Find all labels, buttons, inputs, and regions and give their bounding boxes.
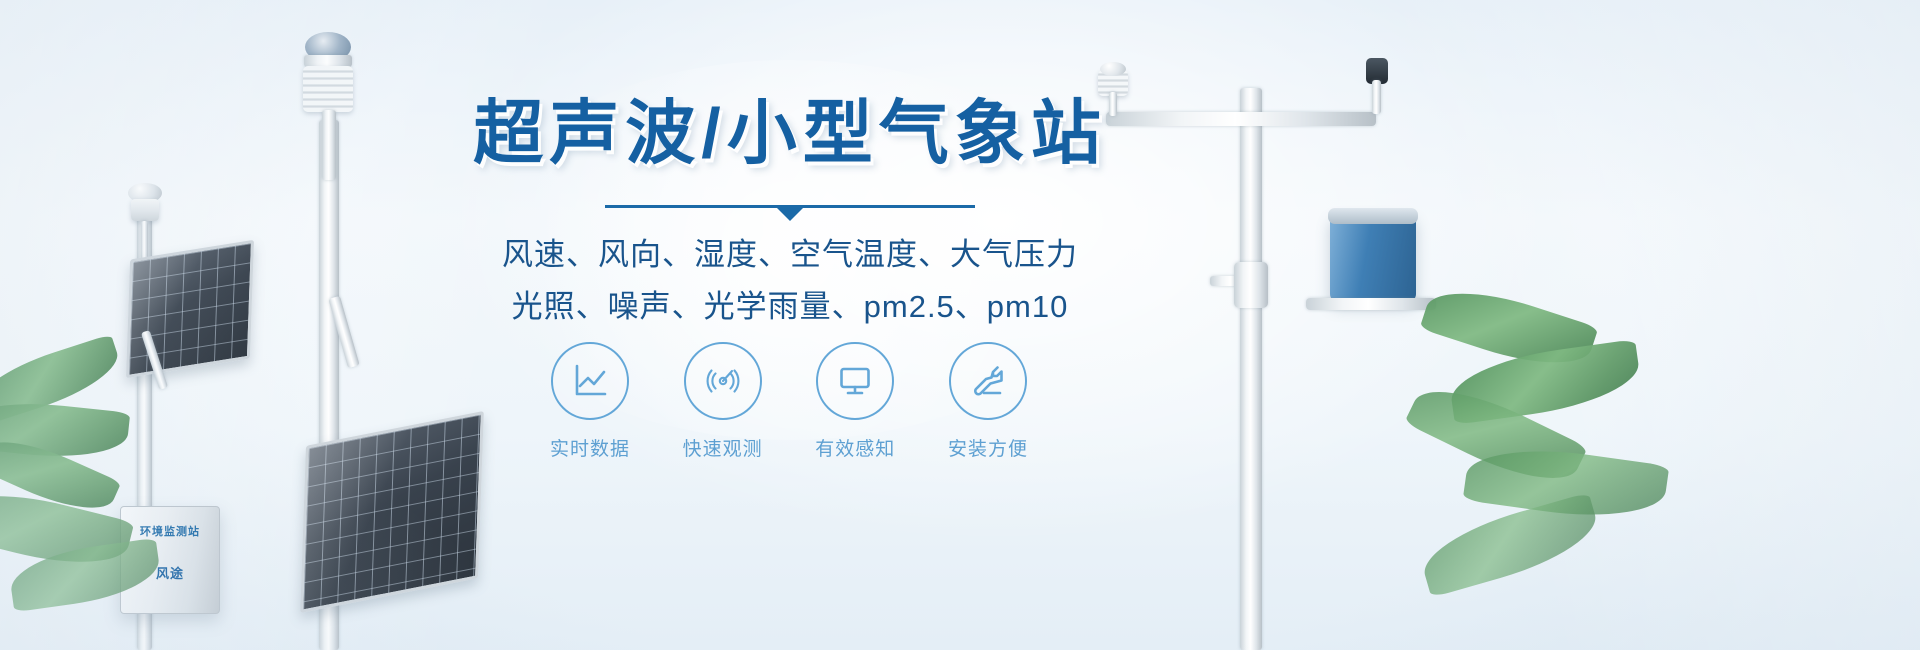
headline-block: 超声波/小型气象站 风速、风向、湿度、空气温度、大气压力 光照、噪声、光学雨量、… — [440, 96, 1140, 332]
wrench-icon — [949, 342, 1027, 420]
feature-item-realtime-data[interactable]: 实时数据 — [534, 342, 646, 461]
mid-radiation-shield — [303, 66, 353, 112]
product-banner: 环境监测站 风途 环境监测站 风途 环境监测站 — [0, 0, 1920, 650]
right-crossarm — [1106, 112, 1376, 126]
monitor-icon — [816, 342, 894, 420]
right-camera-stem — [1372, 80, 1381, 114]
feature-item-fast-observation[interactable]: 快速观测 — [667, 342, 779, 461]
mid-sensor-stem — [322, 110, 336, 180]
left-sensor-stem — [141, 221, 148, 261]
feature-list: 实时数据 快速观测 — [534, 342, 1044, 461]
mid-solar-panel — [300, 411, 484, 613]
line-chart-icon — [551, 342, 629, 420]
page-title: 超声波/小型气象站 — [440, 96, 1140, 172]
right-rain-gauge — [1330, 214, 1416, 302]
feature-item-effective-sensing[interactable]: 有效感知 — [799, 342, 911, 461]
feature-label: 安装方便 — [932, 434, 1044, 461]
feature-label: 实时数据 — [534, 434, 646, 461]
title-divider — [605, 205, 975, 208]
left-solar-panel — [126, 240, 254, 378]
chevron-down-icon — [777, 208, 803, 221]
right-rain-gauge-rim — [1328, 208, 1418, 224]
right-station: 环境监测站 — [0, 605, 1920, 650]
left-cabinet-brand: 风途 — [156, 563, 184, 582]
right-mast-pole — [1240, 88, 1262, 650]
subtitle-line-1: 风速、风向、湿度、空气温度、大气压力 — [440, 230, 1140, 280]
right-lower-crossarm — [1306, 298, 1436, 310]
feature-label: 快速观测 — [667, 434, 779, 461]
feature-item-easy-installation[interactable]: 安装方便 — [932, 342, 1044, 461]
radar-gauge-icon — [684, 342, 762, 420]
feature-label: 有效感知 — [799, 434, 911, 461]
left-radiation-shield — [131, 199, 159, 221]
subtitle-line-2: 光照、噪声、光学雨量、pm2.5、pm10 — [440, 282, 1140, 332]
right-junction-block — [1234, 262, 1268, 308]
right-shield-cap — [1100, 62, 1126, 76]
left-cabinet-label: 环境监测站 — [140, 523, 200, 539]
